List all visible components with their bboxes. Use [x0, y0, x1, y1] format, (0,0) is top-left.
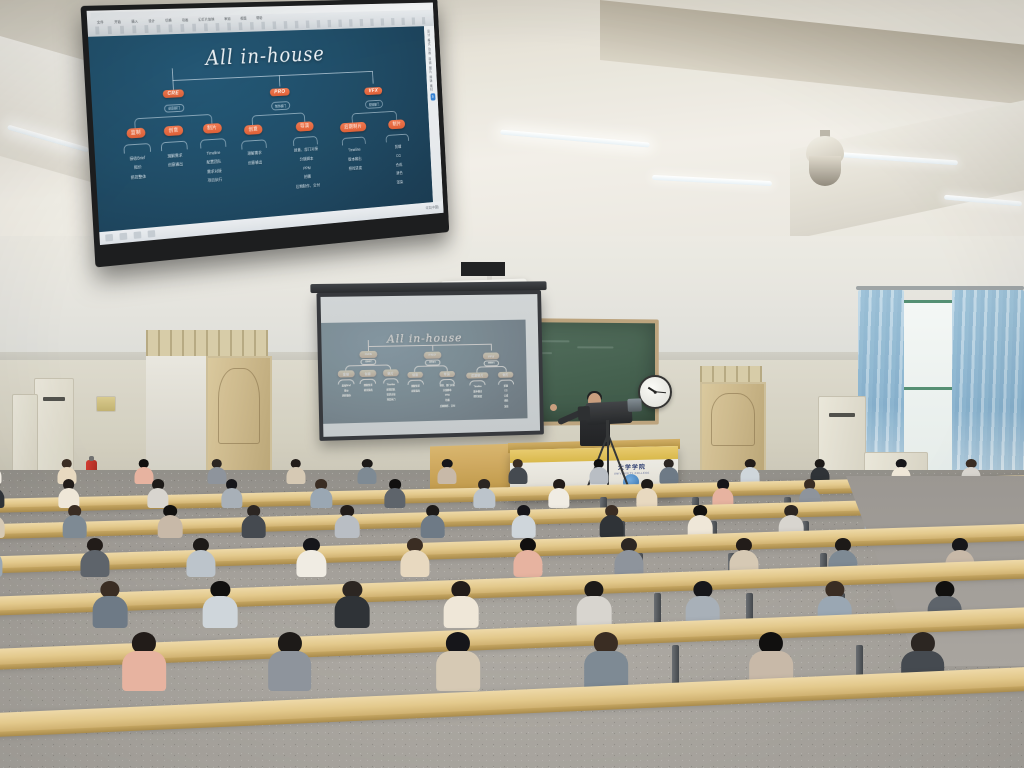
student-body: [311, 488, 332, 508]
projection-screen: All in-house CRE创意部门监制接收Brief报价把控整体创意理解需…: [316, 290, 543, 441]
student: [446, 581, 477, 630]
student: [312, 479, 331, 512]
student: [336, 505, 358, 542]
student: [82, 538, 108, 580]
role-item: 渲染: [396, 177, 403, 186]
student-body: [508, 467, 527, 484]
ribbon-tab-5[interactable]: 动画: [182, 17, 189, 22]
student: [359, 459, 376, 489]
role-brace-pro-0: [241, 139, 267, 149]
ribbon-tab-0[interactable]: 文件: [97, 19, 104, 24]
ribbon-tab-1[interactable]: 开始: [114, 19, 121, 24]
role-item: 把控进度: [474, 395, 483, 400]
toolbar-item-0[interactable]: 设计: [427, 30, 431, 37]
toolbar-item-2[interactable]: 动画: [428, 48, 432, 55]
ribbon-tab-8[interactable]: 视图: [240, 16, 247, 21]
role-node-pro-1[interactable]: 导演: [296, 121, 314, 131]
role-node-cre-0[interactable]: 监制: [338, 371, 354, 378]
student: [439, 459, 456, 489]
ribbon-tab-4[interactable]: 切换: [165, 18, 172, 23]
branch-subtitle-vfx: 视效部门: [365, 100, 383, 108]
student-body: [589, 467, 608, 484]
student-body: [659, 467, 678, 484]
role-node-cre-1[interactable]: 创意: [360, 370, 376, 377]
student: [222, 479, 241, 512]
role-item: 把控整体: [342, 394, 351, 399]
student: [515, 538, 541, 580]
ribbon-tab-9[interactable]: 帮助: [256, 15, 262, 20]
toolbar-item-active[interactable]: AI: [430, 94, 435, 101]
student-body: [93, 596, 128, 628]
role-node-vfx-0[interactable]: 后期制片: [467, 372, 489, 379]
role-items-cre-1: 理解需求创意输出: [364, 383, 373, 394]
role-item: 项目执行: [207, 175, 222, 185]
student-body: [513, 550, 542, 577]
student-body: [384, 488, 405, 508]
role-items-vfx-0: Timeline版本输出把控进度: [473, 385, 482, 401]
student-body: [268, 651, 312, 692]
role-node-cre-2[interactable]: 制片: [203, 123, 222, 134]
student-body: [548, 488, 569, 508]
role-node-cre-1[interactable]: 创意: [164, 125, 184, 136]
student: [95, 581, 126, 630]
role-node-pro-0[interactable]: 创意: [244, 124, 263, 134]
student: [549, 479, 568, 512]
role-item: 创意输出: [411, 389, 420, 394]
role-brace-vfx-0: [342, 136, 366, 146]
student: [438, 632, 477, 692]
student-body: [203, 596, 238, 628]
branch-subtitle-pro: 制作部门: [425, 359, 440, 365]
role-item: 渲染: [504, 405, 508, 410]
ribbon-tab-2[interactable]: 插入: [131, 18, 138, 23]
student-body: [297, 550, 326, 577]
branch-node-cre[interactable]: CRE: [163, 89, 184, 98]
student-body: [358, 467, 377, 484]
role-item: 项目执行: [387, 399, 396, 404]
student: [0, 538, 1, 580]
branch-subtitle-vfx: 视效部门: [484, 360, 499, 366]
role-item: 后期制作、交付: [440, 404, 455, 410]
student-body: [286, 467, 305, 484]
student-body: [80, 550, 109, 577]
toolbar-item-5[interactable]: 排版: [430, 75, 434, 82]
student: [287, 459, 304, 489]
student-body: [62, 515, 87, 538]
student: [509, 459, 526, 489]
ribbon-tab-7[interactable]: 审阅: [224, 16, 231, 21]
role-items-vfx-0: Timeline版本输出把控进度: [347, 145, 362, 172]
role-items-cre-2: Timeline配置团队需求对接项目执行: [386, 383, 395, 404]
role-node-pro-0[interactable]: 创意: [407, 371, 423, 378]
toolbar-item-4[interactable]: 图片: [429, 66, 433, 73]
branch-node-cre[interactable]: CRE: [360, 351, 377, 358]
trunk-drop-pro: [279, 75, 280, 86]
role-node-vfx-1[interactable]: 制片: [498, 371, 514, 378]
role-items-pro-1: 创意、部门对接分镜脚本PPM拍摄后期制作、交付: [294, 145, 321, 192]
role-item: 合成: [395, 160, 402, 169]
lecture-hall-photo: All in-house CRE创意部门监制接收Brief报价把控整体创意理解需…: [0, 0, 1024, 768]
branch-node-pro[interactable]: PRO: [424, 352, 441, 359]
role-item: 版本输出: [473, 390, 482, 395]
student-body: [474, 488, 495, 508]
display-stand: [461, 262, 505, 276]
toolbar-item-3[interactable]: 审阅: [429, 57, 433, 64]
role-items-vfx-1: 剪辑CG合成调色渲染: [504, 384, 509, 410]
student-body: [444, 596, 479, 628]
status-language: 中文(中国): [426, 205, 439, 211]
student-body: [335, 515, 360, 538]
student: [0, 505, 4, 542]
trunk-drop-vfx: [372, 71, 373, 84]
trunk-horizontal: [173, 71, 373, 81]
slide-canvas: All in-house CRE创意部门监制接收Brief报价把控整体创意理解需…: [88, 26, 433, 232]
role-item: 后期制作、交付: [296, 180, 321, 191]
student-body: [511, 515, 536, 538]
door-opening-left: [146, 356, 206, 474]
student: [386, 479, 405, 512]
student: [205, 581, 236, 630]
student-body: [158, 515, 183, 538]
role-items-cre-2: Timeline配置团队需求对接项目执行: [206, 148, 223, 186]
role-node-pro-1[interactable]: 导演: [439, 371, 455, 378]
role-node-vfx-0[interactable]: 后期制片: [340, 122, 366, 133]
student: [159, 505, 181, 542]
student: [337, 581, 368, 630]
branch-subtitle-cre: 创意部门: [164, 103, 184, 112]
role-node-cre-0[interactable]: 监制: [126, 128, 146, 139]
wall-mounted-display[interactable]: 文件开始插入设计切换动画幻灯片放映审阅视图帮助 All in-house CRE…: [80, 0, 449, 267]
role-items-pro-1: 创意、部门对接分镜脚本PPM拍摄后期制作、交付: [440, 383, 456, 409]
student-body: [241, 515, 266, 538]
branch-node-vfx[interactable]: VFX: [364, 87, 382, 96]
wall-plate: [96, 396, 116, 412]
branch-subtitle-pro: 制作部门: [271, 101, 290, 110]
role-item: 创意输出: [364, 389, 373, 394]
role-brace-cre-2: [200, 138, 226, 148]
branch-node-pro[interactable]: PRO: [270, 88, 290, 97]
role-item: 配置团队: [387, 388, 396, 393]
student: [125, 632, 164, 692]
role-item: 把控进度: [348, 163, 362, 173]
student-body: [122, 651, 166, 692]
role-item: 剪辑: [395, 143, 402, 152]
student: [270, 632, 309, 692]
toolbar-item-1[interactable]: 格式: [428, 39, 432, 46]
role-item: 创意、部门对接: [294, 145, 319, 156]
role-items-pro-0: 理解需求创意输出: [247, 149, 262, 168]
student: [64, 505, 86, 542]
trunk-riser: [172, 69, 173, 80]
student-body: [221, 488, 242, 508]
student-body: [600, 515, 625, 538]
role-items-cre-1: 理解需求创意输出: [167, 150, 183, 170]
role-item: 接收Brief: [129, 153, 145, 164]
role-brace-vfx-1: [386, 133, 410, 143]
role-items-vfx-1: 剪辑CG合成调色渲染: [395, 143, 404, 187]
desk-leg: [672, 645, 679, 687]
trunk-drop-pro: [432, 345, 433, 351]
role-item: 把控整体: [130, 172, 146, 183]
role-brace-cre-1: [161, 140, 188, 150]
door-transom-right: [700, 366, 762, 382]
student: [475, 479, 494, 512]
role-items-cre-0: 接收Brief报价把控整体: [129, 153, 146, 182]
student-body: [420, 515, 445, 538]
toolbar-item-6[interactable]: 素材: [430, 84, 434, 91]
student: [422, 505, 444, 542]
role-item: CG: [504, 389, 508, 394]
role-item: 创意输出: [168, 160, 183, 170]
projected-slide: All in-house CRE创意部门监制接收Brief报价把控整体创意理解需…: [321, 320, 527, 424]
student: [586, 632, 625, 692]
role-node-vfx-1[interactable]: 制片: [388, 119, 405, 129]
student-body: [436, 651, 480, 692]
cabinet-left: [12, 394, 38, 482]
student: [298, 538, 324, 580]
role-items-cre-0: 接收Brief报价把控整体: [342, 384, 351, 400]
student-body: [335, 596, 370, 628]
student-body: [400, 550, 429, 577]
role-brace-cre-0: [123, 143, 151, 153]
curtain-right-panel: [952, 290, 1024, 486]
door-transom-left: [146, 330, 268, 356]
role-items-pro-0: 理解需求创意输出: [411, 384, 420, 395]
trunk-drop-vfx: [491, 344, 492, 351]
role-node-cre-2[interactable]: 制片: [383, 370, 399, 377]
student-body: [636, 488, 657, 508]
student: [188, 538, 214, 580]
role-item: 创意输出: [248, 158, 263, 168]
student-body: [187, 550, 216, 577]
student-body: [438, 467, 457, 484]
student: [513, 505, 535, 542]
student: [402, 538, 428, 580]
ribbon-tab-6[interactable]: 幻灯片放映: [198, 16, 214, 21]
trunk-drop-cre: [173, 80, 174, 90]
trunk-riser: [368, 340, 369, 346]
branch-subtitle-cre: 创意部门: [361, 359, 377, 365]
trunk-horizontal: [368, 344, 491, 347]
branch-node-vfx[interactable]: VFX: [483, 353, 499, 360]
wall-clock: [638, 375, 672, 409]
student: [578, 581, 609, 630]
ribbon-tab-3[interactable]: 设计: [148, 18, 155, 23]
student: [243, 505, 265, 542]
student-body: [576, 596, 611, 628]
